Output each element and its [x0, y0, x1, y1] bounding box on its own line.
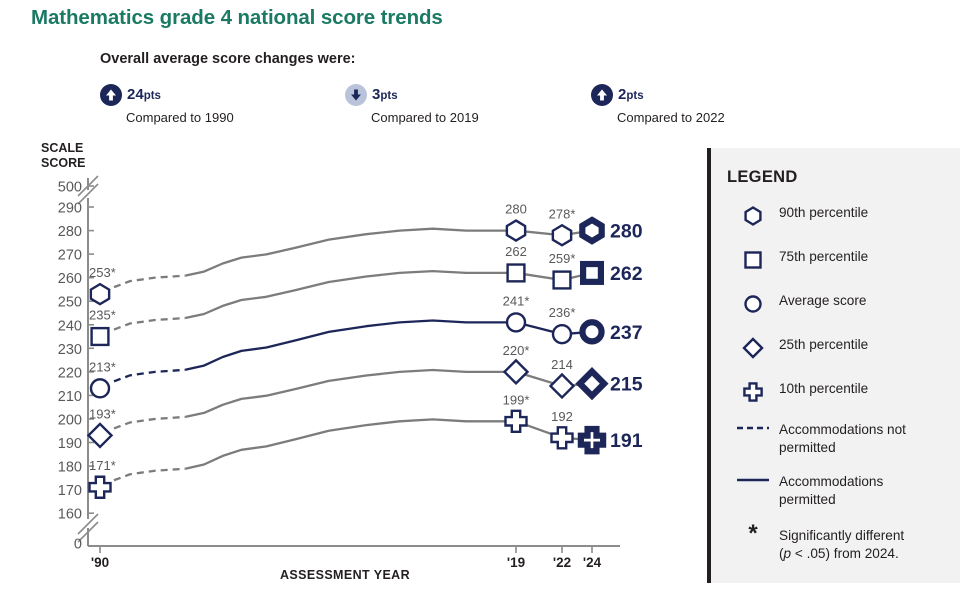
- solid-segment: [185, 271, 592, 318]
- legend-item-10th: 10th percentile: [727, 379, 957, 404]
- hexagon-marker: [553, 225, 571, 245]
- dashed-segment: [114, 370, 185, 382]
- endpoint-value: 280: [610, 221, 643, 243]
- legend-label-75th: 75th percentile: [779, 247, 868, 266]
- cross-marker: [506, 411, 527, 432]
- square-marker: [508, 265, 525, 282]
- x-axis-title: ASSESSMENT YEAR: [280, 568, 410, 582]
- y-tick-label: 270: [58, 248, 82, 264]
- square-icon: [727, 247, 779, 272]
- hexagon-marker: [582, 220, 601, 241]
- square-marker: [583, 264, 601, 282]
- dashed-segment: [114, 318, 185, 330]
- x-tick-label: '24: [583, 555, 602, 570]
- legend-title: LEGEND: [727, 168, 798, 187]
- legend-item-90th: 90th percentile: [727, 203, 957, 228]
- y-axis-title-line1: SCALE: [41, 141, 83, 155]
- line-chart: SCALE SCORE 5002902802702602502402302202…: [0, 0, 700, 610]
- y-tick-label: 180: [58, 460, 82, 476]
- diamond-marker: [551, 374, 574, 397]
- diamond-icon: [727, 335, 779, 360]
- y-tick-label: 250: [58, 295, 82, 311]
- y-tick-label: 240: [58, 318, 82, 334]
- legend-item-25th: 25th percentile: [727, 335, 957, 360]
- legend-panel: LEGEND 90th percentile 75th percentile A…: [707, 148, 960, 583]
- y-tick-label: 280: [58, 224, 82, 240]
- solid-segment: [185, 419, 592, 468]
- y-tick-label: 220: [58, 365, 82, 381]
- y-tick-label: 500: [58, 180, 82, 196]
- y-tick-label: 170: [58, 483, 82, 499]
- dashed-segment: [114, 469, 185, 481]
- x-axis-ticks: '90'19'22'24: [91, 546, 602, 570]
- x-tick-label: '19: [507, 555, 525, 570]
- legend-label-10th: 10th percentile: [779, 379, 868, 398]
- data-point-label: 214: [551, 357, 573, 372]
- endpoint-value: 237: [610, 322, 643, 344]
- y-tick-label: 190: [58, 436, 82, 452]
- y-axis-title-line2: SCORE: [41, 156, 85, 170]
- square-marker: [554, 272, 571, 289]
- diamond-marker: [505, 360, 528, 383]
- diamond-marker: [89, 424, 112, 447]
- data-point-label: 193*: [89, 406, 116, 421]
- legend-label-significance: Significantly different(p < .05) from 20…: [779, 526, 904, 563]
- endpoint-value: 262: [610, 263, 643, 285]
- y-tick-label: 260: [58, 271, 82, 287]
- data-point-label: 171*: [89, 458, 116, 473]
- y-tick-label: 290: [58, 201, 82, 217]
- data-point-label: 278*: [549, 206, 576, 221]
- data-point-label: 192: [551, 409, 573, 424]
- data-point-label: 220*: [503, 343, 530, 358]
- circle-marker: [582, 322, 601, 341]
- solid-segment: [185, 321, 592, 370]
- legend-item-solid: Accommodations permitted: [727, 472, 957, 509]
- dashed-segment: [114, 417, 185, 429]
- data-point-label: 213*: [89, 359, 116, 374]
- chart-svg: SCALE SCORE 5002902802702602502402302202…: [0, 0, 700, 610]
- x-tick-label: '22: [553, 555, 571, 570]
- legend-label-25th: 25th percentile: [779, 335, 868, 354]
- legend-label-90th: 90th percentile: [779, 203, 868, 222]
- y-tick-label: 210: [58, 389, 82, 405]
- data-point-label: 280: [505, 202, 527, 217]
- endpoint-value: 215: [610, 374, 643, 396]
- legend-item-75th: 75th percentile: [727, 247, 957, 272]
- series-layer: 253*280278*280235*262259*262213*241*236*…: [89, 202, 643, 498]
- x-tick-label: '90: [91, 555, 109, 570]
- y-tick-label: 200: [58, 413, 82, 429]
- y-tick-label: 230: [58, 342, 82, 358]
- y-tick-label: 160: [58, 507, 82, 523]
- solid-line-icon: [727, 472, 779, 487]
- dashed-segment: [114, 276, 185, 288]
- asterisk-icon: *: [727, 526, 779, 541]
- cross-icon: [727, 379, 779, 404]
- circle-marker: [91, 379, 109, 397]
- cross-marker: [90, 477, 111, 498]
- endpoint-value: 191: [610, 430, 643, 452]
- diamond-marker: [580, 371, 604, 395]
- data-point-label: 199*: [503, 392, 530, 407]
- hexagon-marker: [507, 221, 525, 241]
- circle-marker: [553, 325, 571, 343]
- cross-marker: [581, 429, 603, 451]
- circle-icon: [727, 291, 779, 316]
- square-marker: [92, 328, 109, 345]
- data-point-label: 253*: [89, 265, 116, 280]
- y-tick-label: 0: [74, 537, 82, 553]
- data-point-label: 259*: [549, 251, 576, 266]
- legend-item-significance: * Significantly different(p < .05) from …: [727, 526, 957, 563]
- circle-marker: [507, 313, 525, 331]
- data-point-label: 262: [505, 244, 527, 259]
- data-point-label: 241*: [503, 293, 530, 308]
- legend-item-dashed: Accommodations not permitted: [727, 420, 957, 457]
- data-point-label: 236*: [549, 305, 576, 320]
- legend-label-average: Average score: [779, 291, 866, 310]
- solid-segment: [185, 370, 592, 417]
- solid-segment: [185, 229, 592, 276]
- series-cross: 171*199*192191: [89, 392, 643, 497]
- legend-label-dashed: Accommodations not permitted: [779, 420, 957, 457]
- cross-marker: [552, 427, 573, 448]
- legend-item-average: Average score: [727, 291, 957, 316]
- hexagon-marker: [91, 284, 109, 304]
- hexagon-icon: [727, 203, 779, 228]
- legend-label-solid: Accommodations permitted: [779, 472, 939, 509]
- data-point-label: 235*: [89, 308, 116, 323]
- dashed-line-icon: [727, 420, 779, 435]
